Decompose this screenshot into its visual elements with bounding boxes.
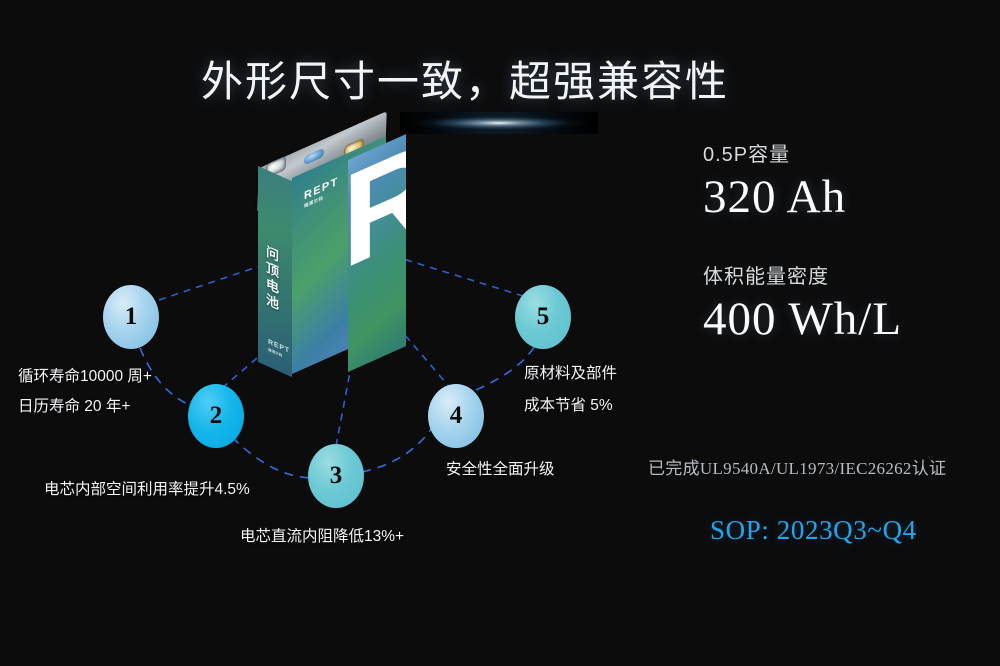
feature-2-line-1: 电芯内部空间利用率提升4.5% (44, 475, 250, 505)
density-value: 400 Wh/L (703, 291, 993, 348)
slide-canvas: 外形尺寸一致，超强兼容性 问顶电池 REPT瑞浦兰钧 (0, 0, 1000, 666)
feature-label-1: 循环寿命10000 周+ 日历寿命 20 年+ (18, 362, 152, 422)
feature-label-4: 安全性全面升级 (446, 455, 555, 485)
spec-density: 体积能量密度 400 Wh/L (703, 260, 993, 348)
feature-label-3: 电芯直流内阻降低13%+ (240, 522, 404, 552)
feature-1-line-1: 循环寿命10000 周+ (18, 362, 152, 392)
page-title: 外形尺寸一致，超强兼容性 (0, 48, 930, 109)
feature-1-line-2: 日历寿命 20 年+ (18, 392, 152, 422)
title-divider-glow (400, 112, 598, 134)
certification-text: 已完成UL9540A/UL1973/IEC26262认证 (648, 454, 946, 479)
feature-node-1[interactable]: 1 (103, 285, 159, 349)
capacity-label: 0.5P容量 (703, 138, 993, 167)
feature-3-line-1: 电芯直流内阻降低13%+ (240, 522, 404, 552)
battery-cell-image: 问顶电池 REPT瑞浦兰钧 REPT瑞浦兰钧 LFP 320Ah R (240, 138, 450, 403)
spec-panel: 0.5P容量 320 Ah 体积能量密度 400 Wh/L (703, 138, 993, 349)
spec-capacity: 0.5P容量 320 Ah (703, 138, 993, 226)
cell-side-text: 问顶电池 (266, 244, 284, 315)
cell-right-face: R (348, 134, 406, 372)
feature-node-4[interactable]: 4 (428, 384, 484, 448)
capacity-value: 320 Ah (703, 169, 993, 226)
cell-brand-bottom: REPT瑞浦兰钧 (268, 338, 290, 360)
feature-label-5: 原材料及部件 成本节省 5% (524, 358, 617, 422)
cell-brand-logo: REPT瑞浦兰钧 (304, 175, 339, 209)
feature-5-line-2: 成本节省 5% (524, 390, 617, 422)
rept-r-logo-icon: R (348, 139, 406, 291)
arc-2-3 (232, 437, 312, 478)
arc-3-4 (362, 428, 432, 472)
feature-4-line-1: 安全性全面升级 (446, 455, 555, 485)
density-label: 体积能量密度 (703, 260, 993, 289)
sop-text: SOP: 2023Q3~Q4 (710, 515, 917, 546)
feature-label-2: 电芯内部空间利用率提升4.5% (44, 475, 250, 505)
feature-5-line-1: 原材料及部件 (524, 358, 617, 390)
cell-side-face: 问顶电池 REPT瑞浦兰钧 (258, 166, 292, 377)
feature-node-5[interactable]: 5 (515, 285, 571, 349)
feature-node-3[interactable]: 3 (308, 444, 364, 508)
feature-node-2[interactable]: 2 (188, 384, 244, 448)
